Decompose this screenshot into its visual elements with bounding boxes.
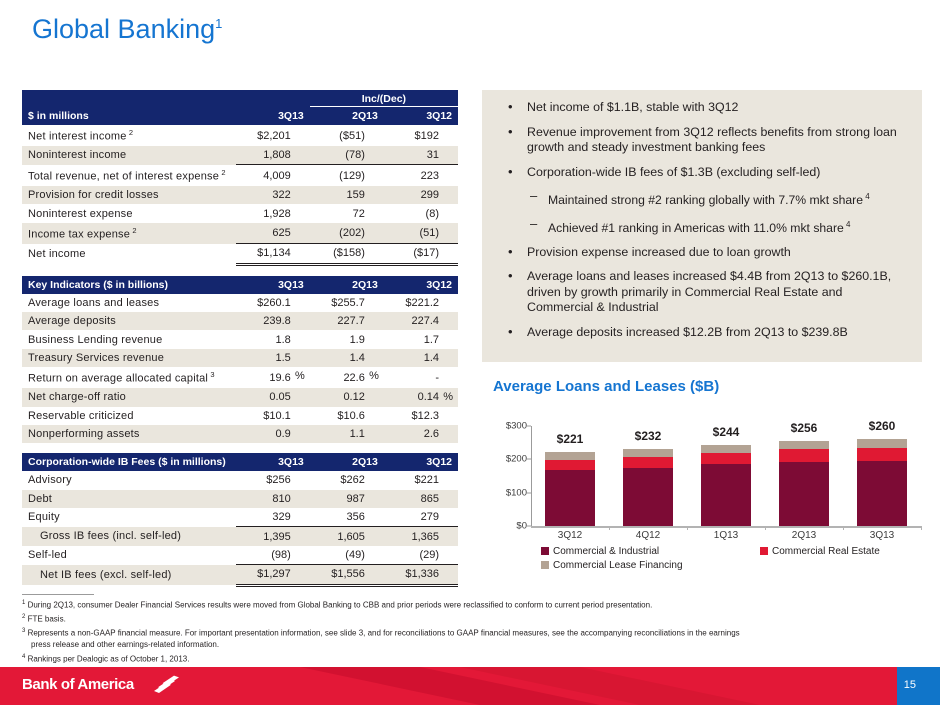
chart-x-tick-mark-0 [609,526,610,530]
income-row-1-value-1: (78) [310,146,384,165]
highlight-sub-bullet: Achieved #1 ranking in Americas with 11.… [494,217,910,237]
income-row-2-number-2: 223 [421,170,452,182]
ib-fees-header-row: Corporation-wide IB Fees ($ in millions)… [22,453,458,471]
ib-row-1-number-1: 987 [347,493,378,505]
ki-row-0-number-0: $260.1 [257,297,304,309]
ib-row-1-label: Debt [22,490,236,508]
ib-fees-row: Self-led(98)(49)(29) [22,546,458,565]
ki-row-3-label: Treasury Services revenue [22,349,236,367]
chart-bar-segment-cre-1Q13 [701,453,751,465]
ib-fees-row: Equity329356279 [22,508,458,527]
income-row-2-value-0: 4,009 [236,165,310,186]
chart-x-tick-3Q12: 3Q12 [540,530,600,541]
ib-fees-row: Debt810987865 [22,490,458,508]
income-table-col-3q13: 3Q13 [236,107,310,126]
chart-bar-segment-ci-1Q13 [701,464,751,526]
chart-plot-area: $0$100$200$300 $221$232$244$256$260 3Q12… [493,399,925,559]
ki-row-5-value-1: 0.12 [310,388,384,406]
ki-row-6-value-2: $12.3 [384,407,458,425]
income-row-5-label: Income tax expense 2 [22,223,236,244]
key-indicators-header-row: Key Indicators ($ in billions) 3Q13 2Q13… [22,276,458,294]
chart-bar-segment-ci-3Q13 [857,461,907,526]
income-row-3-number-1: 159 [347,189,378,201]
ki-row-5-label: Net charge-off ratio [22,388,236,406]
chart-data-label-2Q13: $256 [791,421,818,435]
ib-row-1-number-0: 810 [272,493,303,505]
ki-row-0-value-1: $255.7 [310,294,384,312]
key-indicators-row: Average loans and leases$260.1$255.7$221… [22,294,458,312]
ki-row-1-value-1: 227.7 [310,312,384,330]
ib-row-3-number-1: 1,605 [337,531,378,543]
ib-row-3-number-2: 1,365 [411,531,452,543]
ki-row-5-unit-2: % [443,391,453,403]
income-row-5-value-1: (202) [310,223,384,244]
income-table-header: Inc/(Dec) $ in millions 3Q13 2Q13 3Q12 [22,90,458,125]
ib-fees-col-label: Corporation-wide IB Fees ($ in millions) [22,453,236,471]
ki-row-2-number-0: 1.8 [275,334,303,346]
highlight-bullet-text-2: Corporation-wide IB fees of $1.3B (exclu… [527,165,820,179]
ib-row-4-value-1: (49) [310,546,384,565]
ib-row-0-number-1: $262 [340,474,377,486]
income-row-0-number-0: $2,201 [257,130,304,142]
average-loans-chart-block: Average Loans and Leases ($B) $0$100$200… [493,378,925,559]
ki-row-4-value-1: 22.6% [310,367,384,388]
ib-row-4-label: Self-led [22,546,236,565]
page-title: Global Banking1 [32,14,222,45]
ki-row-2-value-1: 1.9 [310,330,384,348]
ki-row-6-value-1: $10.6 [310,407,384,425]
ib-row-5-value-1: $1,556 [310,565,384,585]
highlight-bullet-footnote-4: 4 [844,220,851,229]
income-row-5-number-2: (51) [419,227,452,239]
income-row-1-number-2: 31 [427,149,452,161]
income-row-6-number-0: $1,134 [257,247,304,259]
income-row-4-number-2: (8) [426,208,452,220]
ki-row-1-value-0: 239.8 [236,312,310,330]
legend-swatch-commercial-real-estate [760,547,768,555]
ki-row-1-value-2: 227.4 [384,312,458,330]
income-row-5-value-2: (51) [384,223,458,244]
chart-bar-segment-cre-4Q12 [623,457,673,468]
ib-row-3-value-1: 1,605 [310,527,384,546]
income-table-row: Total revenue, net of interest expense 2… [22,165,458,186]
key-indicators-col-3q13: 3Q13 [236,276,310,294]
income-row-3-value-1: 159 [310,186,384,204]
income-table-col-3q12: 3Q12 [384,107,458,126]
chart-bar-1Q13: $244 [701,445,751,526]
chart-x-tick-4Q12: 4Q12 [618,530,678,541]
ib-fees-table: Corporation-wide IB Fees ($ in millions)… [22,453,458,586]
highlights-panel: Net income of $1.1B, stable with 3Q12Rev… [482,90,922,362]
ki-row-3-value-2: 1.4 [384,349,458,367]
chart-data-label-4Q12: $232 [635,429,662,443]
ib-fees-row: Net IB fees (excl. self-led)$1,297$1,556… [22,565,458,585]
ki-row-0-label: Average loans and leases [22,294,236,312]
ki-row-4-value-2: - [384,367,458,388]
income-row-6-value-1: ($158) [310,244,384,264]
ib-fees-row: Gross IB fees (incl. self-led)1,3951,605… [22,527,458,546]
key-indicators-row: Average deposits239.8227.7227.4 [22,312,458,330]
highlight-bullet-footnote-3: 4 [863,192,870,201]
income-row-0-label-footnote: 2 [127,128,134,137]
ib-row-4-value-2: (29) [384,546,458,565]
ib-row-2-number-1: 356 [347,511,378,523]
ib-row-2-number-2: 279 [421,511,452,523]
ib-row-3-value-0: 1,395 [236,527,310,546]
slide-footer: Bank of America 15 [0,667,940,705]
ki-row-5-number-1: 0.12 [343,391,377,403]
highlight-bullet-text-3: Maintained strong #2 ranking globally wi… [548,193,863,207]
ib-row-3-number-0: 1,395 [263,531,304,543]
highlight-bullet: Average deposits increased $12.2B from 2… [494,325,910,341]
chart-bar-segment-ci-3Q12 [545,470,595,526]
page-title-text: Global Banking [32,14,215,44]
income-row-1-number-1: (78) [345,149,378,161]
chart-x-tick-mark-3 [843,526,844,530]
chart-legend: Commercial & Industrial Commercial Real … [493,546,925,571]
ib-row-0-value-0: $256 [236,471,310,489]
ki-row-0-value-2: $221.2 [384,294,458,312]
chart-bar-segment-cre-3Q12 [545,460,595,470]
ki-row-2-number-1: 1.9 [350,334,378,346]
ib-row-0-number-0: $256 [266,474,303,486]
ki-row-4-label-footnote: 3 [208,370,215,379]
ki-row-5-value-2: 0.14% [384,388,458,406]
income-table-row: Noninterest expense1,92872(8) [22,204,458,222]
page-number: 15 [904,679,916,691]
ib-fees-col-3q12: 3Q12 [384,453,458,471]
chart-x-tick-2Q13: 2Q13 [774,530,834,541]
chart-bar-3Q12: $221 [545,452,595,526]
key-indicators-row: Treasury Services revenue1.51.41.4 [22,349,458,367]
ki-row-4-value-0: 19.6% [236,367,310,388]
income-row-4-label: Noninterest expense [22,204,236,222]
footnote-continuation-3: press release and other earnings-related… [22,640,922,651]
ib-fees-col-3q13: 3Q13 [236,453,310,471]
ib-row-5-number-2: $1,336 [405,568,452,580]
ki-row-2-label: Business Lending revenue [22,330,236,348]
income-row-2-number-1: (129) [339,170,378,182]
ki-row-3-value-0: 1.5 [236,349,310,367]
ib-row-3-label: Gross IB fees (incl. self-led) [22,527,236,546]
highlight-bullet-text-7: Average deposits increased $12.2B from 2… [527,325,848,339]
income-row-0-value-0: $2,201 [236,125,310,146]
income-row-6-value-0: $1,134 [236,244,310,264]
key-indicators-row: Business Lending revenue1.81.91.7 [22,330,458,348]
income-row-5-number-1: (202) [339,227,378,239]
income-table-col-2q13: 2Q13 [310,107,384,126]
ib-row-0-number-2: $221 [415,474,452,486]
income-row-4-value-2: (8) [384,204,458,222]
chart-y-tick-300: $300 [506,421,527,432]
income-row-0-value-2: $192 [384,125,458,146]
highlight-bullet: Provision expense increased due to loan … [494,245,910,261]
income-table-group-incdec: Inc/(Dec) [310,90,458,107]
highlight-bullet: Average loans and leases increased $4.4B… [494,269,910,316]
chart-data-label-1Q13: $244 [713,425,740,439]
legend-swatch-commercial-lease-financing [541,561,549,569]
key-indicators-row: Net charge-off ratio0.050.120.14% [22,388,458,406]
footnote-marker-1: 1 [22,600,25,606]
chart-bar-segment-ci-2Q13 [779,462,829,526]
income-row-1-label: Noninterest income [22,146,236,165]
ki-row-3-number-0: 1.5 [275,352,303,364]
ki-row-4-label: Return on average allocated capital 3 [22,367,236,388]
chart-bar-segment-ci-4Q12 [623,468,673,526]
ib-fees-row: Advisory$256$262$221 [22,471,458,489]
ki-row-7-number-1: 1.1 [350,428,378,440]
income-row-2-label-footnote: 2 [219,168,226,177]
chart-bar-segment-clf-4Q12 [623,449,673,457]
chart-bar-segment-cre-2Q13 [779,449,829,461]
ib-row-2-label: Equity [22,508,236,527]
ib-row-0-value-1: $262 [310,471,384,489]
legend-item-commercial-real-estate: Commercial Real Estate [760,546,880,557]
footnote-3: 3 Represents a non-GAAP financial measur… [22,626,922,639]
ki-row-3-number-2: 1.4 [424,352,452,364]
chart-bar-segment-cre-3Q13 [857,448,907,460]
ki-row-7-value-0: 0.9 [236,425,310,443]
footnote-1: 1 During 2Q13, consumer Dealer Financial… [22,598,922,611]
income-table-group-blank-2 [236,90,310,107]
highlight-bullet-text-4: Achieved #1 ranking in Americas with 11.… [548,221,844,235]
income-table-group-blank [22,90,236,107]
income-row-5-value-0: 625 [236,223,310,244]
income-row-5-label-footnote: 2 [130,226,137,235]
chart-x-axis [531,526,921,528]
income-row-2-number-0: 4,009 [263,170,304,182]
income-table-row: Income tax expense 2625(202)(51) [22,223,458,244]
footnote-marker-4: 4 [22,654,25,660]
income-row-1-value-2: 31 [384,146,458,165]
income-table-col-label: $ in millions [22,107,236,126]
ib-row-1-value-2: 865 [384,490,458,508]
highlight-bullet: Corporation-wide IB fees of $1.3B (exclu… [494,165,910,181]
income-row-5-number-0: 625 [272,227,303,239]
chart-bar-4Q12: $232 [623,449,673,526]
income-row-1-number-0: 1,808 [263,149,304,161]
ib-row-2-value-0: 329 [236,508,310,527]
income-table-column-header-row: $ in millions 3Q13 2Q13 3Q12 [22,107,458,126]
bank-of-america-flag-icon [150,674,180,697]
ki-row-7-number-0: 0.9 [275,428,303,440]
income-row-3-number-2: 299 [421,189,452,201]
ib-row-0-label: Advisory [22,471,236,489]
income-row-2-label: Total revenue, net of interest expense 2 [22,165,236,186]
key-indicators-body: Average loans and leases$260.1$255.7$221… [22,294,458,444]
key-indicators-col-2q13: 2Q13 [310,276,384,294]
ib-row-2-number-0: 329 [272,511,303,523]
income-table-row: Noninterest income1,808(78)31 [22,146,458,165]
ib-row-1-value-0: 810 [236,490,310,508]
key-indicators-row: Nonperforming assets0.91.12.6 [22,425,458,443]
ki-row-6-label: Reservable criticized [22,407,236,425]
ib-fees-header: Corporation-wide IB Fees ($ in millions)… [22,453,458,471]
chart-y-tick-labels: $0$100$200$300 [493,399,527,526]
chart-title: Average Loans and Leases ($B) [493,378,925,395]
legend-label-commercial-real-estate: Commercial Real Estate [772,546,880,557]
income-row-3-value-0: 322 [236,186,310,204]
key-indicators-col-label: Key Indicators ($ in billions) [22,276,236,294]
key-indicators-col-3q12: 3Q12 [384,276,458,294]
ib-row-0-value-2: $221 [384,471,458,489]
income-row-6-value-2: ($17) [384,244,458,264]
ki-row-4-unit-1: % [369,370,379,382]
chart-y-tick-mark-200 [527,459,531,460]
chart-x-tick-mark-4 [921,526,922,530]
ib-row-4-value-0: (98) [236,546,310,565]
footnote-2: 2 FTE basis. [22,612,922,625]
income-row-0-number-2: $192 [415,130,452,142]
ki-row-6-number-2: $12.3 [411,410,452,422]
ki-row-3-number-1: 1.4 [350,352,378,364]
ib-row-4-number-2: (29) [419,549,452,561]
income-row-1-value-0: 1,808 [236,146,310,165]
footnotes-block: 1 During 2Q13, consumer Dealer Financial… [22,594,922,666]
income-row-4-value-0: 1,928 [236,204,310,222]
chart-x-tick-mark-1 [687,526,688,530]
ki-row-2-value-0: 1.8 [236,330,310,348]
ib-row-3-value-2: 1,365 [384,527,458,546]
chart-y-tick-0: $0 [516,521,527,532]
ib-row-5-label: Net IB fees (excl. self-led) [22,565,236,585]
income-row-6-number-2: ($17) [413,247,452,259]
ib-row-2-value-2: 279 [384,508,458,527]
chart-y-tick-100: $100 [506,487,527,498]
ki-row-0-number-1: $255.7 [331,297,378,309]
ib-row-4-number-1: (49) [345,549,378,561]
highlight-bullet-text-1: Revenue improvement from 3Q12 reflects b… [527,125,897,155]
ki-row-7-label: Nonperforming assets [22,425,236,443]
income-row-0-number-1: ($51) [339,130,378,142]
page-title-footnote-marker: 1 [215,16,222,31]
ki-row-0-number-2: $221.2 [405,297,452,309]
chart-y-tick-200: $200 [506,454,527,465]
legend-label-commercial-industrial: Commercial & Industrial [553,546,659,557]
chart-bar-segment-clf-3Q13 [857,439,907,448]
ki-row-7-number-2: 2.6 [424,428,452,440]
chart-bar-segment-clf-2Q13 [779,441,829,450]
chart-bar-segment-clf-3Q12 [545,452,595,460]
ki-row-1-number-0: 239.8 [263,315,304,327]
ki-row-2-value-2: 1.7 [384,330,458,348]
key-indicators-table: Key Indicators ($ in billions) 3Q13 2Q13… [22,276,458,444]
income-row-0-label: Net interest income 2 [22,125,236,146]
chart-bar-3Q13: $260 [857,439,907,526]
legend-label-commercial-lease-financing: Commercial Lease Financing [553,560,683,571]
ib-row-1-value-1: 987 [310,490,384,508]
chart-data-label-3Q12: $221 [557,432,584,446]
income-row-4-value-1: 72 [310,204,384,222]
income-table-row: Provision for credit losses322159299 [22,186,458,204]
income-row-3-value-2: 299 [384,186,458,204]
highlight-bullet-text-5: Provision expense increased due to loan … [527,245,791,259]
ib-row-4-number-0: (98) [271,549,304,561]
ki-row-2-number-2: 1.7 [424,334,452,346]
income-table-body: Net interest income 2$2,201($51)$192Noni… [22,125,458,264]
highlight-bullet: Revenue improvement from 3Q12 reflects b… [494,125,910,156]
ki-row-4-number-2: - [435,372,452,384]
highlight-bullet: Net income of $1.1B, stable with 3Q12 [494,100,910,116]
chart-bar-2Q13: $256 [779,441,829,526]
chart-x-tick-3Q13: 3Q13 [852,530,912,541]
ki-row-1-number-2: 227.4 [411,315,452,327]
ib-row-5-value-0: $1,297 [236,565,310,585]
income-row-4-number-1: 72 [353,208,378,220]
income-row-3-number-0: 322 [272,189,303,201]
footnote-4: 4 Rankings per Dealogic as of October 1,… [22,652,922,665]
ib-fees-body: Advisory$256$262$221Debt810987865Equity3… [22,471,458,585]
highlight-sub-bullet: Maintained strong #2 ranking globally wi… [494,189,910,209]
ki-row-5-number-0: 0.05 [269,391,303,403]
income-row-6-number-1: ($158) [333,247,378,259]
chart-y-tick-mark-100 [527,492,531,493]
ib-row-5-value-2: $1,336 [384,565,458,585]
ki-row-6-value-0: $10.1 [236,407,310,425]
income-row-6-label: Net income [22,244,236,264]
chart-data-label-3Q13: $260 [869,419,896,433]
ki-row-4-unit-0: % [295,370,305,382]
ki-row-1-number-1: 227.7 [337,315,378,327]
key-indicators-row: Reservable criticized$10.1$10.6$12.3 [22,407,458,425]
chart-y-axis [531,426,532,526]
ki-row-0-value-0: $260.1 [236,294,310,312]
chart-x-tick-mark-2 [765,526,766,530]
ki-row-1-label: Average deposits [22,312,236,330]
financial-tables-column: Inc/(Dec) $ in millions 3Q13 2Q13 3Q12 N… [22,90,458,587]
income-statement-table: Inc/(Dec) $ in millions 3Q13 2Q13 3Q12 N… [22,90,458,266]
highlight-bullet-text-6: Average loans and leases increased $4.4B… [527,269,891,314]
highlights-bullet-list: Net income of $1.1B, stable with 3Q12Rev… [482,90,922,341]
ib-row-5-number-0: $1,297 [257,568,304,580]
legend-swatch-commercial-industrial [541,547,549,555]
footnote-marker-3: 3 [22,628,25,634]
income-table-row: Net income$1,134($158)($17) [22,244,458,264]
income-table-group-header-row: Inc/(Dec) [22,90,458,107]
income-table-row: Net interest income 2$2,201($51)$192 [22,125,458,146]
ki-row-7-value-1: 1.1 [310,425,384,443]
highlight-bullet-text-0: Net income of $1.1B, stable with 3Q12 [527,100,738,114]
footnotes-list: 1 During 2Q13, consumer Dealer Financial… [22,598,922,665]
income-row-2-value-1: (129) [310,165,384,186]
chart-x-tick-1Q13: 1Q13 [696,530,756,541]
ib-row-2-value-1: 356 [310,508,384,527]
ib-fees-col-2q13: 2Q13 [310,453,384,471]
ib-row-1-number-2: 865 [421,493,452,505]
footnote-marker-2: 2 [22,614,25,620]
legend-item-commercial-industrial: Commercial & Industrial [541,546,756,557]
income-row-2-value-2: 223 [384,165,458,186]
chart-y-tick-mark-0 [527,526,531,527]
ki-row-5-value-0: 0.05 [236,388,310,406]
ki-row-7-value-2: 2.6 [384,425,458,443]
footnotes-divider [22,594,94,595]
income-row-3-label: Provision for credit losses [22,186,236,204]
ki-row-3-value-1: 1.4 [310,349,384,367]
ki-row-6-number-0: $10.1 [263,410,304,422]
chart-y-tick-mark-300 [527,426,531,427]
ib-row-5-number-1: $1,556 [331,568,378,580]
ki-row-6-number-1: $10.6 [337,410,378,422]
key-indicators-header: Key Indicators ($ in billions) 3Q13 2Q13… [22,276,458,294]
income-row-0-value-1: ($51) [310,125,384,146]
legend-item-commercial-lease-financing: Commercial Lease Financing [541,560,683,571]
income-row-4-number-0: 1,928 [263,208,304,220]
key-indicators-row: Return on average allocated capital 319.… [22,367,458,388]
brand-logo-text: Bank of America [22,676,134,693]
chart-bar-segment-clf-1Q13 [701,445,751,453]
